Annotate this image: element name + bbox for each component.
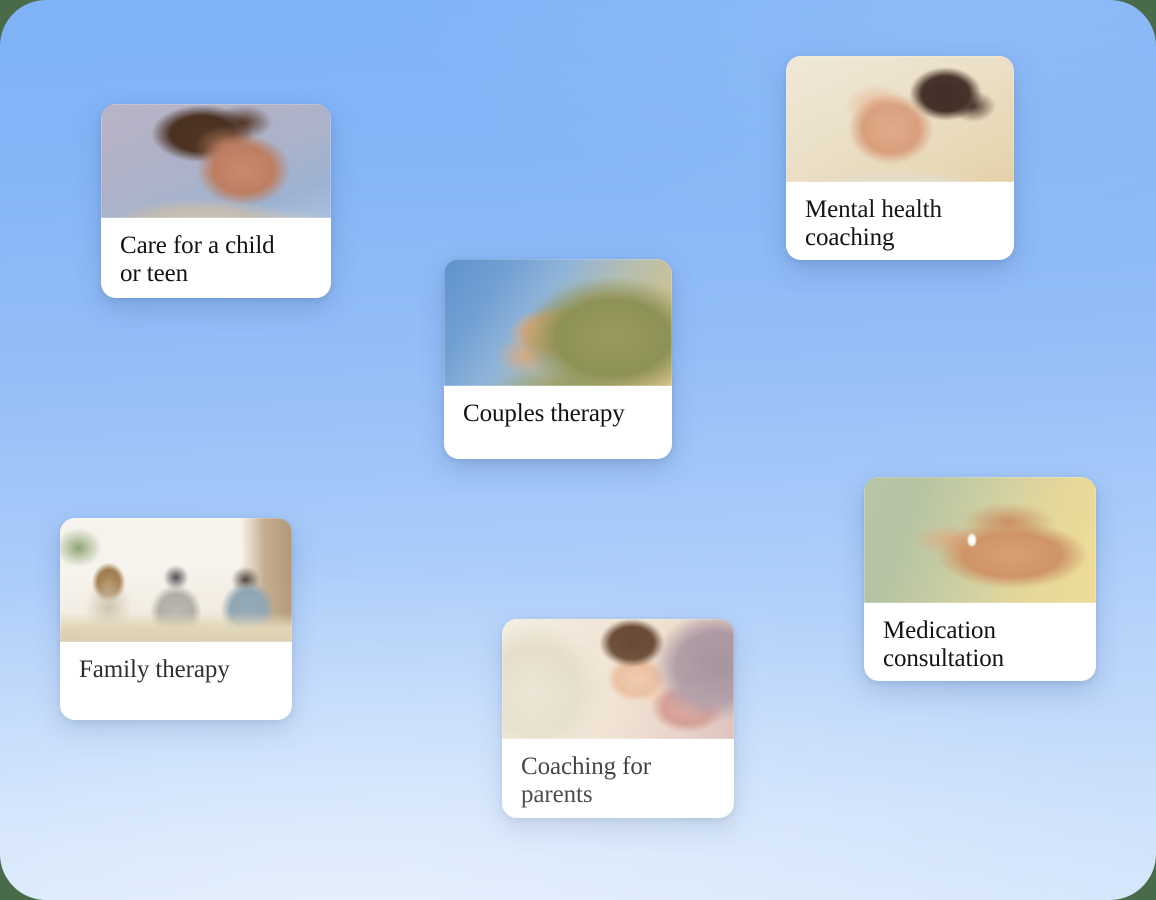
service-card-couples-therapy[interactable]: Couples therapy xyxy=(444,259,672,459)
photo-boy-looking-up xyxy=(101,104,331,218)
service-card-label-couples-therapy: Couples therapy xyxy=(444,386,672,459)
photo-hands-embracing xyxy=(444,259,672,386)
service-card-care-for-a-child-or-teen[interactable]: Care for a child or teen xyxy=(101,104,331,298)
service-card-coaching-for-parents[interactable]: Coaching for parents xyxy=(502,619,734,818)
service-card-image-family-therapy xyxy=(60,518,292,642)
service-card-family-therapy[interactable]: Family therapy xyxy=(60,518,292,720)
service-card-label-care-for-a-child-or-teen: Care for a child or teen xyxy=(101,218,331,298)
service-card-image-care-for-a-child-or-teen xyxy=(101,104,331,218)
photo-family-on-couch xyxy=(60,518,292,642)
service-card-image-coaching-for-parents xyxy=(502,619,734,739)
photo-woman-smiling-profile xyxy=(786,56,1014,182)
service-card-label-family-therapy: Family therapy xyxy=(60,642,292,720)
service-card-label-mental-health-coaching: Mental health coaching xyxy=(786,182,1014,260)
service-card-image-medication-consultation xyxy=(864,477,1096,603)
screenshot-stage: Care for a child or teen Mental health c… xyxy=(0,0,1156,900)
service-card-medication-consultation[interactable]: Medication consultation xyxy=(864,477,1096,681)
photo-parent-and-child xyxy=(502,619,734,739)
services-panel: Care for a child or teen Mental health c… xyxy=(0,0,1156,900)
service-card-image-couples-therapy xyxy=(444,259,672,386)
service-card-label-medication-consultation: Medication consultation xyxy=(864,603,1096,681)
photo-hand-holding-pill xyxy=(864,477,1096,603)
service-card-label-coaching-for-parents: Coaching for parents xyxy=(502,739,734,818)
service-card-image-mental-health-coaching xyxy=(786,56,1014,182)
service-card-mental-health-coaching[interactable]: Mental health coaching xyxy=(786,56,1014,260)
